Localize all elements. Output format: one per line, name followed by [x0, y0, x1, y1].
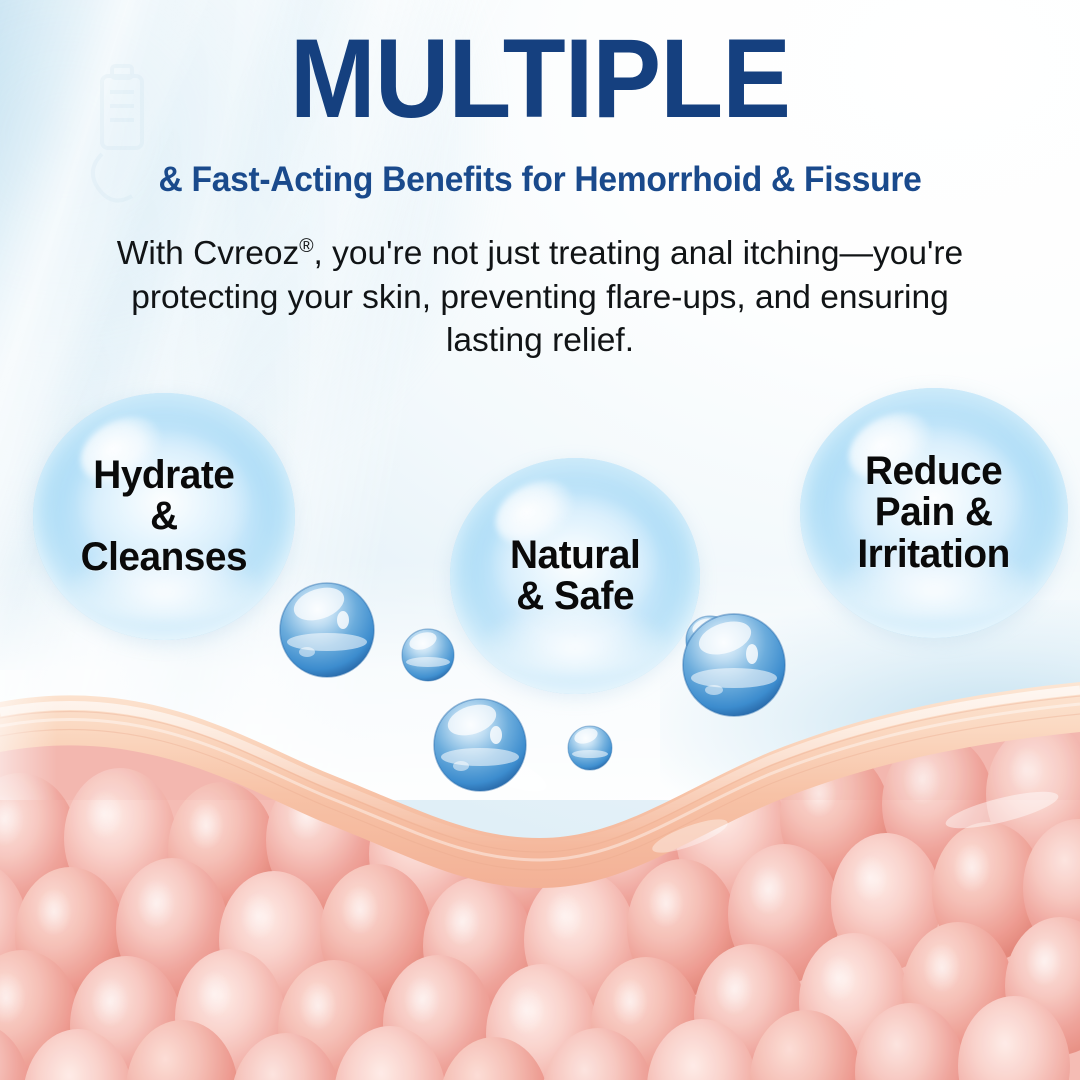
body-paragraph: With Cvreoz®, you're not just treating a… [95, 232, 985, 363]
droplet-small-center [566, 724, 614, 772]
benefit-label-reduce: Reduce Pain & Irritation [858, 451, 1011, 575]
benefit-label-hydrate: Hydrate & Cleanses [81, 455, 248, 579]
skin-cross-section-illustration [0, 640, 1080, 1080]
droplet-large-center [431, 696, 529, 794]
registered-trademark-mark: ® [299, 235, 313, 257]
benefit-bubble-reduce[interactable]: Reduce Pain & Irritation [800, 388, 1068, 638]
page-title: MULTIPLE [43, 22, 1037, 136]
body-text-lead: With Cvreoz [117, 235, 299, 272]
droplet-small-left [400, 627, 456, 683]
page-subtitle: & Fast-Acting Benefits for Hemorrhoid & … [22, 160, 1059, 200]
droplet-large-right-visible [681, 612, 787, 718]
benefit-label-natural: Natural & Safe [510, 535, 640, 617]
skin-diagram-svg [0, 640, 1080, 1080]
droplet-large-left [277, 580, 377, 680]
promotional-infographic: MULTIPLE & Fast-Acting Benefits for Hemo… [0, 0, 1080, 1080]
benefit-bubble-hydrate[interactable]: Hydrate & Cleanses [33, 393, 295, 640]
